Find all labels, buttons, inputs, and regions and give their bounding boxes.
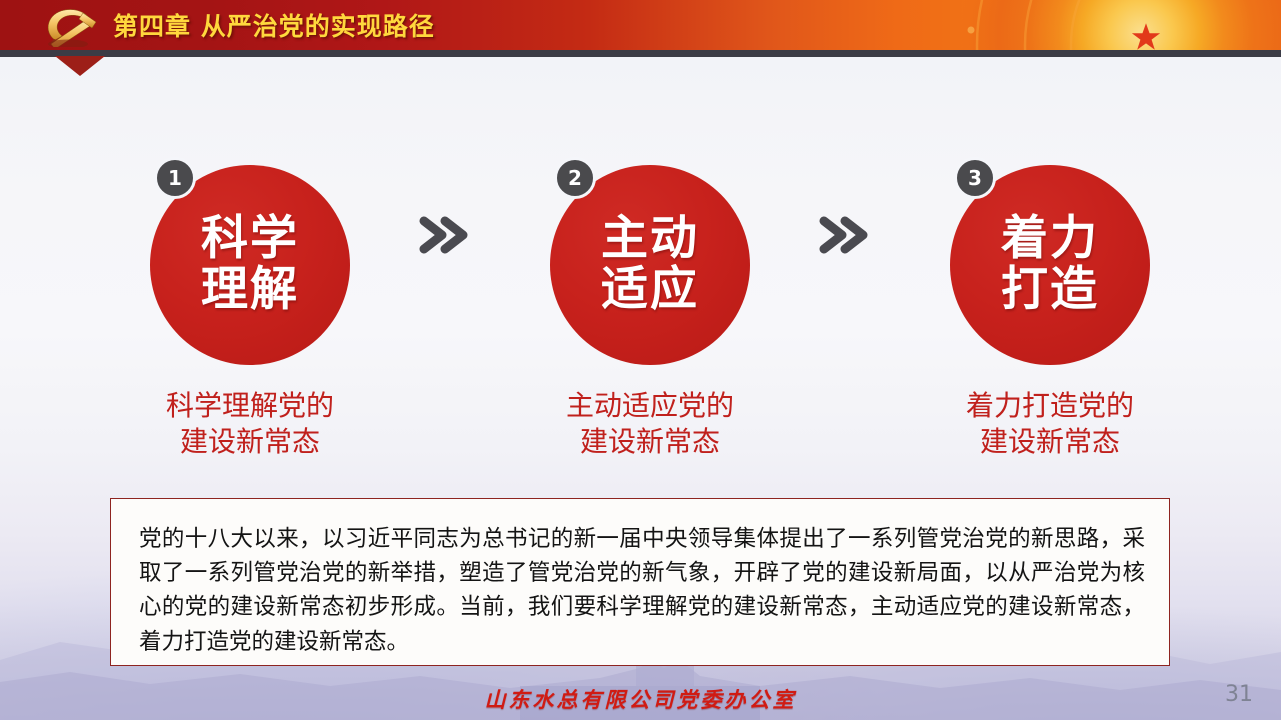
- step-label-line1: 主动: [601, 214, 699, 265]
- page-number: 31: [1225, 682, 1253, 707]
- step-label-line2: 理解: [201, 265, 299, 316]
- step-label-line2: 适应: [601, 265, 699, 316]
- process-flow: 科学 理解 1 主动 适应 2 着力: [0, 150, 1281, 360]
- process-step-2[interactable]: 主动 适应 2: [545, 150, 755, 350]
- page-title: 第四章 从严治党的实现路径: [113, 0, 435, 50]
- hammer-sickle-emblem: [40, 5, 102, 47]
- caption-line-1: 着力打造党的: [966, 389, 1134, 422]
- caption-line-1: 科学理解党的: [166, 389, 334, 422]
- footer-organization: 山东水总有限公司党委办公室: [0, 684, 1281, 714]
- caption-line-2: 建设新常态: [900, 424, 1200, 460]
- slide-canvas: 第四章 从严治党的实现路径 科学 理解 1 主动 适应 2: [0, 0, 1281, 720]
- caption-line-2: 建设新常态: [500, 424, 800, 460]
- step-label-line2: 打造: [1001, 265, 1099, 316]
- header-underline-bar: [0, 50, 1281, 57]
- double-chevron-right-icon-1: [412, 205, 472, 265]
- step-caption-1: 科学理解党的 建设新常态: [100, 388, 400, 460]
- step-number-badge-1: 1: [154, 157, 196, 199]
- step-label-line1: 着力: [1001, 214, 1099, 265]
- step-caption-3: 着力打造党的 建设新常态: [900, 388, 1200, 460]
- header-burst-rings: [921, 0, 1281, 50]
- body-text-box: 党的十八大以来，以习近平同志为总书记的新一届中央领导集体提出了一系列管党治党的新…: [110, 498, 1170, 666]
- body-paragraph: 党的十八大以来，以习近平同志为总书记的新一届中央领导集体提出了一系列管党治党的新…: [139, 522, 1145, 659]
- slide-header-bar: 第四章 从严治党的实现路径: [0, 0, 1281, 50]
- double-chevron-right-icon-2: [812, 205, 872, 265]
- step-label-line1: 科学: [201, 214, 299, 265]
- header-pointer-triangle: [55, 56, 105, 76]
- process-captions: 科学理解党的 建设新常态 主动适应党的 建设新常态 着力打造党的 建设新常态: [0, 388, 1281, 468]
- step-number-badge-3: 3: [954, 157, 996, 199]
- caption-line-2: 建设新常态: [100, 424, 400, 460]
- process-step-1[interactable]: 科学 理解 1: [145, 150, 355, 350]
- step-caption-2: 主动适应党的 建设新常态: [500, 388, 800, 460]
- process-step-3[interactable]: 着力 打造 3: [945, 150, 1155, 350]
- red-star-icon: [1131, 22, 1161, 50]
- step-number-badge-2: 2: [554, 157, 596, 199]
- caption-line-1: 主动适应党的: [566, 389, 734, 422]
